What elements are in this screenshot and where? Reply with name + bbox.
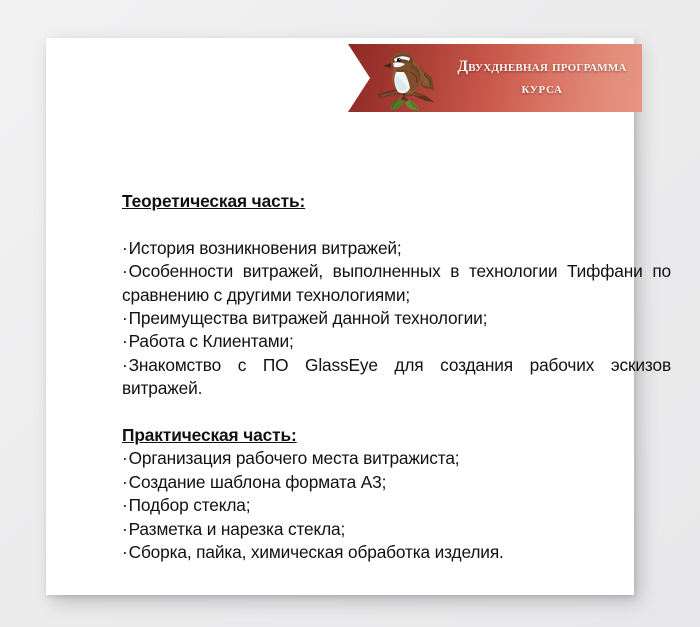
banner-title-line-2: курса xyxy=(521,78,562,100)
list-item: Подбор стекла; xyxy=(122,494,671,517)
course-title-banner: Двухдневная программа курса xyxy=(348,44,642,112)
list-item: Организация рабочего места витражиста; xyxy=(122,447,671,470)
list-item: Сборка, пайка, химическая обработка изде… xyxy=(122,541,671,564)
slide-canvas: Теоретическая часть: История возникновен… xyxy=(0,0,700,627)
practice-section-heading: Практическая часть: xyxy=(122,424,671,447)
list-item: Преимущества витражей данной технологии; xyxy=(122,307,671,330)
list-item: Создание шаблона формата А3; xyxy=(122,471,671,494)
course-program-content: Теоретическая часть: История возникновен… xyxy=(122,190,671,564)
list-item: Разметка и нарезка стекла; xyxy=(122,518,671,541)
list-item: История возникновения витражей; xyxy=(122,237,671,260)
practice-items-list: Организация рабочего места витражиста; С… xyxy=(122,447,671,564)
list-item: Работа с Клиентами; xyxy=(122,330,671,353)
bird-on-branch-emblem xyxy=(374,44,446,112)
spacer xyxy=(122,213,671,236)
banner-title-text: Двухдневная программа курса xyxy=(444,44,640,112)
list-item: Знакомство с ПО GlassEye для создания ра… xyxy=(122,354,671,401)
content-card: Теоретическая часть: История возникновен… xyxy=(46,38,634,595)
spacer xyxy=(122,401,671,424)
list-item: Особенности витражей, выполненных в техн… xyxy=(122,260,671,307)
theory-items-list: История возникновения витражей; Особенно… xyxy=(122,237,671,401)
theory-section-heading: Теоретическая часть: xyxy=(122,190,671,213)
banner-title-line-1: Двухдневная программа xyxy=(457,56,626,78)
